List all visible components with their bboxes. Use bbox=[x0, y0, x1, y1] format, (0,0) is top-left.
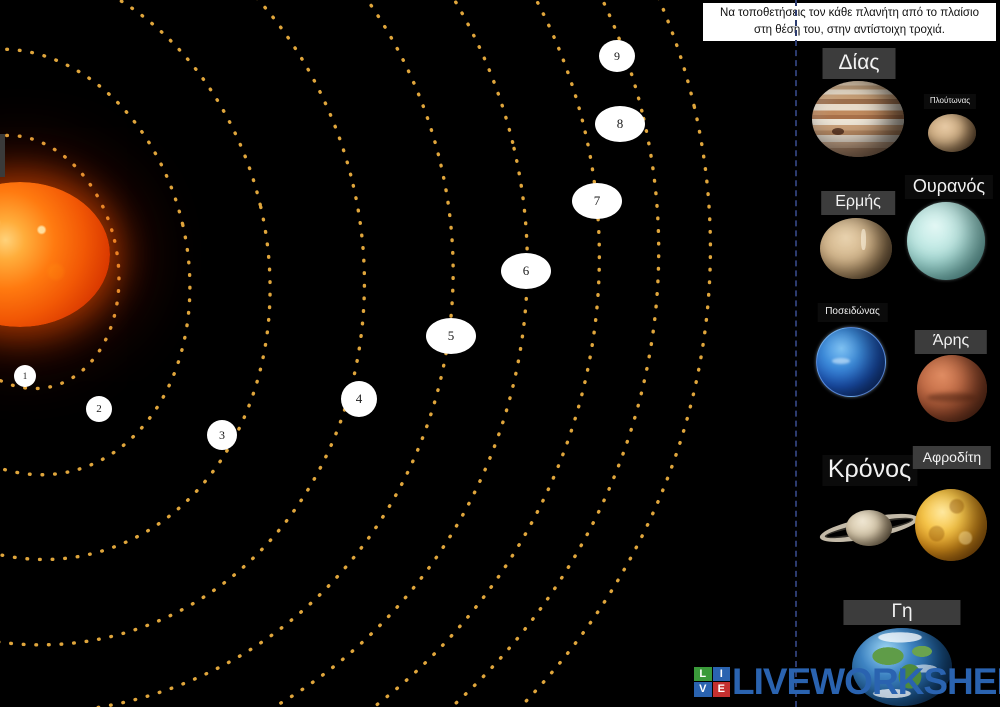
mercury-image[interactable] bbox=[820, 218, 892, 279]
planet-label-text: Άρης bbox=[933, 332, 969, 349]
saturn-image[interactable] bbox=[819, 497, 919, 559]
planet-card-saturn[interactable]: Κρόνος bbox=[817, 455, 922, 565]
logo-badge-cell-e: E bbox=[713, 682, 731, 697]
orbit-marker-label: 4 bbox=[356, 391, 363, 407]
orbit-marker-4[interactable]: 4 bbox=[341, 381, 377, 417]
saturn-body bbox=[846, 510, 892, 546]
planet-card-neptune[interactable]: Ποσειδώνας bbox=[805, 303, 900, 396]
pluto-image[interactable] bbox=[928, 114, 976, 152]
planet-label-text: Αφροδίτη bbox=[923, 449, 981, 465]
sun-image bbox=[0, 182, 110, 327]
logo-badge-cell-v: V bbox=[694, 682, 712, 697]
planet-label-text: Πλούτωνας bbox=[930, 96, 970, 105]
planet-label-uranus: Ουρανός bbox=[905, 175, 993, 199]
sun-label: Ήλιος bbox=[0, 134, 5, 177]
orbit-marker-7[interactable]: 7 bbox=[572, 183, 622, 219]
logo-badge-cell-i: I bbox=[713, 667, 731, 682]
planet-label-text: Ποσειδώνας bbox=[825, 306, 880, 317]
planet-label-mercury: Ερμής bbox=[821, 191, 895, 215]
orbit-marker-label: 5 bbox=[448, 328, 455, 344]
planet-label-neptune: Ποσειδώνας bbox=[817, 303, 888, 322]
mars-image[interactable] bbox=[917, 355, 987, 422]
orbit-marker-label: 3 bbox=[219, 428, 225, 443]
venus-image[interactable] bbox=[915, 489, 987, 561]
orbit-marker-8[interactable]: 8 bbox=[595, 106, 645, 142]
orbit-marker-label: 2 bbox=[96, 403, 102, 415]
jupiter-image[interactable] bbox=[812, 81, 904, 157]
worksheet-canvas: Ήλιος 1 2 3 4 5 6 7 8 9 Να τοποθετήσεις … bbox=[0, 0, 1000, 707]
logo-badge-cell-l: L bbox=[694, 667, 712, 682]
planet-label-text: Ουρανός bbox=[913, 176, 985, 196]
planet-label-venus: Αφροδίτη bbox=[913, 446, 991, 469]
planet-card-mars[interactable]: Άρης bbox=[907, 330, 995, 422]
uranus-image[interactable] bbox=[907, 202, 985, 280]
planet-label-saturn: Κρόνος bbox=[822, 455, 917, 486]
planet-label-mars: Άρης bbox=[915, 330, 987, 354]
planet-card-jupiter[interactable]: Δίας bbox=[810, 48, 908, 158]
orbit-marker-label: 9 bbox=[614, 49, 620, 64]
orbit-marker-2[interactable]: 2 bbox=[86, 396, 112, 422]
planet-card-venus[interactable]: Αφροδίτη bbox=[909, 446, 995, 558]
sun-group: Ήλιος bbox=[0, 182, 110, 327]
logo-wordmark: LIVEWORKSHEETS bbox=[732, 663, 1000, 700]
neptune-image[interactable] bbox=[816, 327, 886, 397]
planet-label-pluto: Πλούτωνας bbox=[924, 94, 976, 109]
planet-label-text: Γη bbox=[891, 601, 912, 622]
orbit-marker-1[interactable]: 1 bbox=[14, 365, 36, 387]
orbit-marker-3[interactable]: 3 bbox=[207, 420, 237, 450]
orbit-marker-6[interactable]: 6 bbox=[501, 253, 551, 289]
planet-label-earth: Γη bbox=[843, 600, 960, 625]
orbit-marker-label: 7 bbox=[594, 193, 601, 209]
orbit-marker-9[interactable]: 9 bbox=[599, 40, 635, 72]
orbit-marker-label: 6 bbox=[523, 263, 530, 279]
planet-card-pluto[interactable]: Πλούτωνας bbox=[914, 94, 986, 156]
planet-label-text: Κρόνος bbox=[828, 455, 911, 483]
orbit-marker-label: 1 bbox=[23, 371, 28, 381]
orbit-marker-5[interactable]: 5 bbox=[426, 318, 476, 354]
planet-label-jupiter: Δίας bbox=[823, 48, 896, 79]
liveworksheets-logo: L I V E LIVEWORKSHEETS bbox=[694, 663, 1000, 700]
planet-label-text: Ερμής bbox=[835, 193, 881, 210]
planet-card-mercury[interactable]: Ερμής bbox=[812, 191, 904, 279]
logo-badge-icon: L I V E bbox=[694, 667, 730, 697]
planet-label-text: Δίας bbox=[839, 51, 880, 74]
orbit-marker-label: 8 bbox=[617, 116, 624, 132]
planet-bank-panel: Δίας Πλούτωνας Ερμής Ουρανός bbox=[795, 0, 1000, 707]
planet-card-uranus[interactable]: Ουρανός bbox=[899, 175, 999, 280]
